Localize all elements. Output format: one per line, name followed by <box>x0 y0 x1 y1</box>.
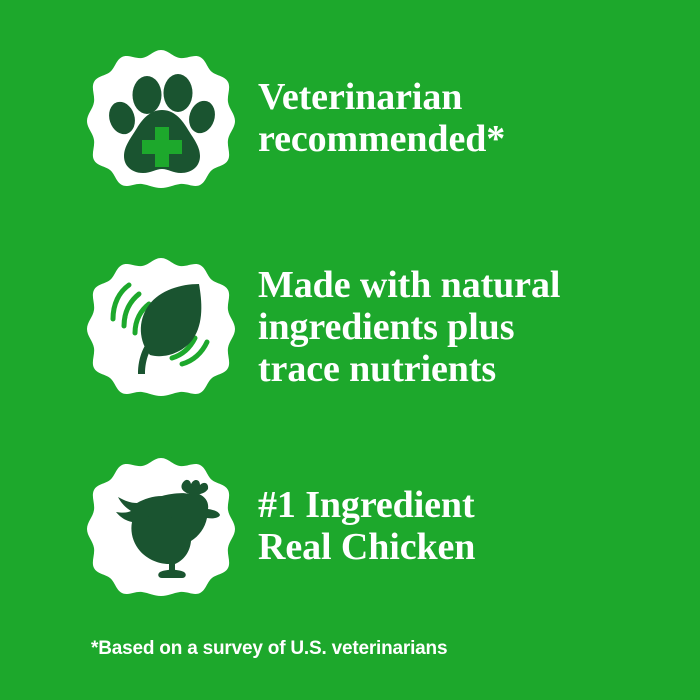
scalloped-badge <box>86 256 236 398</box>
feature-row: #1 Ingredient Real Chicken <box>0 456 700 598</box>
footnote-text: *Based on a survey of U.S. veterinarians <box>91 637 447 661</box>
leaf-with-motion-lines-icon <box>86 256 236 398</box>
chicken-icon <box>86 456 236 598</box>
scalloped-badge <box>86 456 236 598</box>
paw-with-cross-icon <box>86 48 236 190</box>
feature-row: Made with natural ingredients plus trace… <box>0 256 700 398</box>
feature-row: Veterinarian recommended* <box>0 48 700 190</box>
scalloped-badge <box>86 48 236 190</box>
feature-text: Veterinarian recommended* <box>258 48 700 160</box>
feature-text: #1 Ingredient Real Chicken <box>258 456 700 568</box>
feature-text: Made with natural ingredients plus trace… <box>258 256 700 390</box>
promo-panel: Veterinarian recommended* <box>0 0 700 700</box>
